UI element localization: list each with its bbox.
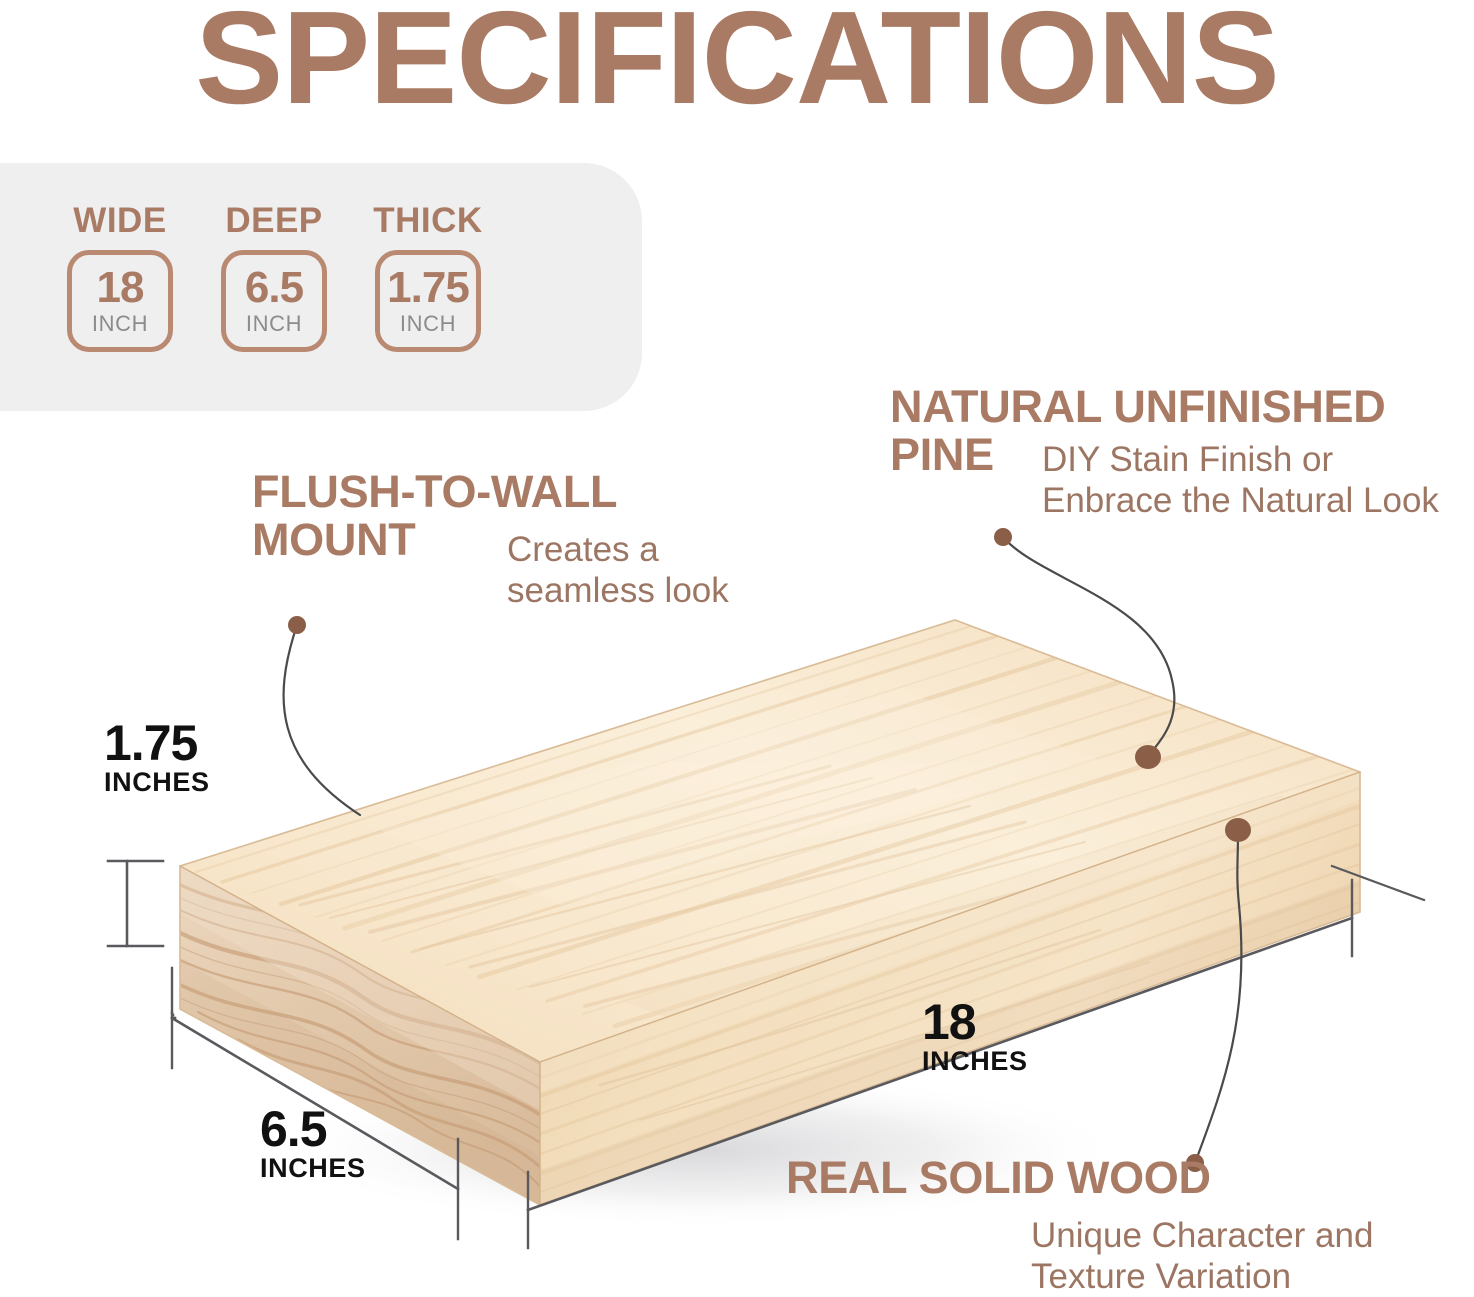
dimension-label-length: 18 INCHES	[922, 998, 1028, 1077]
callout-flush-to-wall-mount: FLUSH-TO-WALL MOUNT Creates a seamless l…	[252, 468, 782, 564]
callout-subtext: DIY Stain Finish or Enbrace the Natural …	[1042, 440, 1442, 521]
leader-line-flush	[284, 625, 360, 815]
callout-subtext: Creates a seamless look	[507, 530, 777, 611]
dimension-value: 18	[922, 998, 1028, 1047]
callout-natural-unfinished-pine: NATURAL UNFINISHED PINE DIY Stain Finish…	[890, 383, 1470, 479]
dimension-label-depth: 6.5 INCHES	[260, 1105, 366, 1184]
dimension-unit: INCHES	[104, 768, 210, 798]
leader-dot-wood-end	[1225, 818, 1251, 842]
callout-subtext: Unique Character and Texture Variation	[1031, 1216, 1411, 1297]
wood-board-illustration	[0, 0, 1474, 1289]
callout-heading: REAL SOLID WOOD	[786, 1152, 1211, 1203]
dimension-unit: INCHES	[260, 1154, 366, 1184]
callout-real-solid-wood: REAL SOLID WOOD Unique Character and Tex…	[786, 1154, 1406, 1202]
infographic-canvas: SPECIFICATIONS WIDE 18 INCH DEEP 6.5 INC…	[0, 0, 1474, 1289]
leader-dot-pine-start	[994, 528, 1012, 546]
dimension-label-thickness: 1.75 INCHES	[104, 719, 210, 798]
leader-dot-flush	[288, 616, 306, 634]
dimension-value: 6.5	[260, 1105, 366, 1154]
dimension-unit: INCHES	[922, 1047, 1028, 1077]
dimension-value: 1.75	[104, 719, 210, 768]
leader-dot-pine-end	[1135, 745, 1161, 769]
